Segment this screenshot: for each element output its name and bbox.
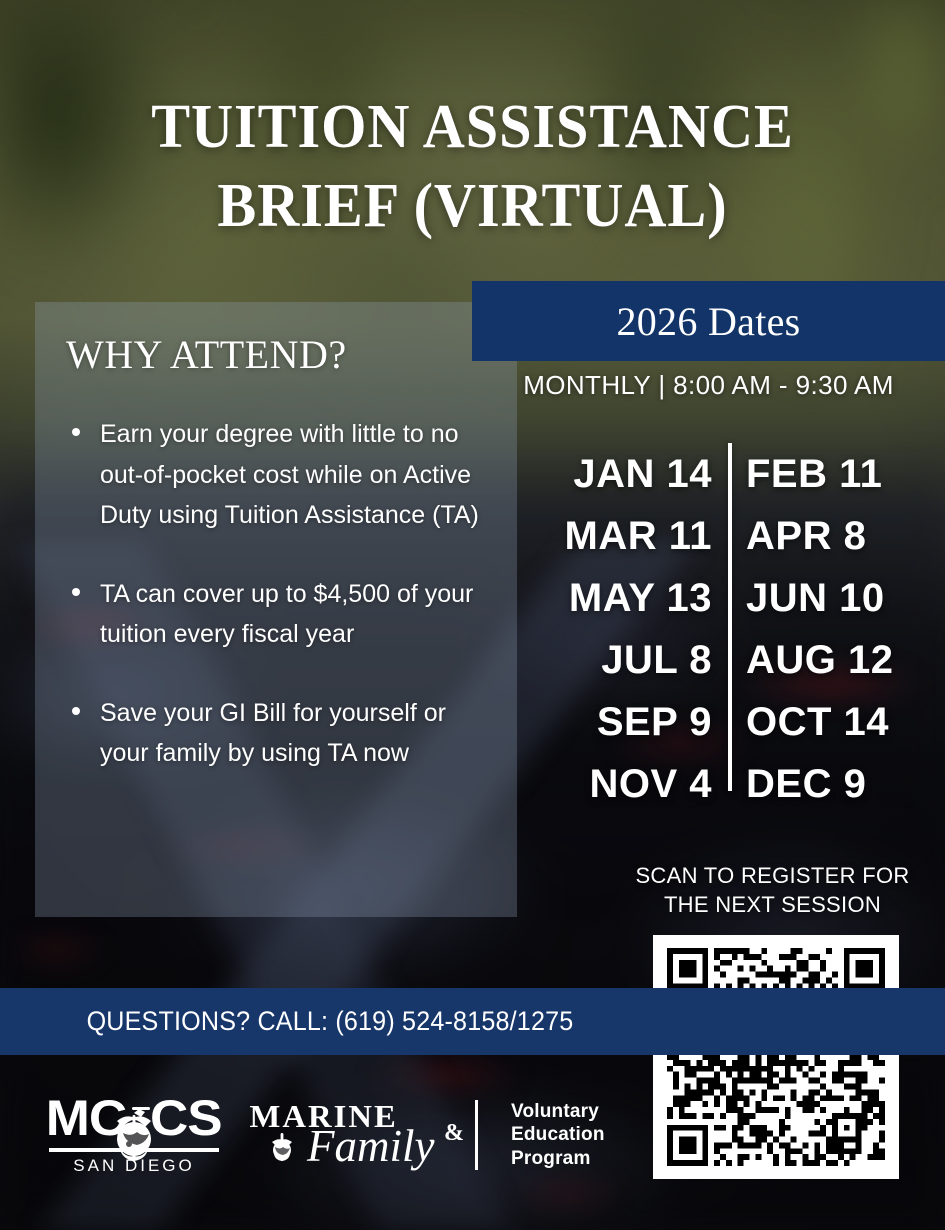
- date-cell: OCT 14: [746, 691, 889, 753]
- why-attend-bullet-list: Earn your degree with little to no out-o…: [68, 414, 500, 774]
- vep-line-3: Program: [511, 1147, 615, 1171]
- date-cell: APR 8: [746, 505, 866, 567]
- date-cell: SEP 9: [597, 691, 712, 753]
- marine-and-family-logo: MARINE & Family: [251, 1096, 483, 1174]
- eagle-globe-anchor-small-icon: [265, 1130, 299, 1164]
- date-cell: NOV 4: [589, 753, 712, 815]
- list-item: TA can cover up to $4,500 of your tuitio…: [68, 574, 500, 655]
- scan-line-2: THE NEXT SESSION: [600, 890, 945, 919]
- questions-phone-text: QUESTIONS? CALL: (619) 524-8158/1275: [23, 988, 637, 1055]
- date-cell: DEC 9: [746, 753, 866, 815]
- title-line-1: TUITION ASSISTANCE: [28, 88, 916, 167]
- list-item: Save your GI Bill for yourself or your f…: [68, 693, 500, 774]
- dates-left-column: JAN 14 MAR 11 MAY 13 JUL 8 SEP 9 NOV 4: [540, 443, 712, 815]
- list-item: Earn your degree with little to no out-o…: [68, 414, 500, 536]
- why-attend-panel: WHY ATTEND? Earn your degree with little…: [35, 302, 517, 917]
- why-attend-heading: WHY ATTEND?: [66, 331, 347, 378]
- ampersand-glyph: &: [444, 1120, 464, 1147]
- dates-vertical-divider: [728, 443, 732, 791]
- date-cell: MAY 13: [569, 567, 712, 629]
- dates-grid: JAN 14 MAR 11 MAY 13 JUL 8 SEP 9 NOV 4 F…: [540, 443, 945, 815]
- scan-line-1: SCAN TO REGISTER FOR: [600, 861, 945, 890]
- voluntary-education-program-label: Voluntary Education Program: [511, 1096, 615, 1174]
- date-cell: MAR 11: [565, 505, 713, 567]
- qr-code[interactable]: [653, 935, 899, 1179]
- dates-right-column: FEB 11 APR 8 JUN 10 AUG 12 OCT 14 DEC 9: [746, 443, 945, 815]
- date-cell: JUL 8: [601, 629, 712, 691]
- vep-line-2: Education: [511, 1123, 615, 1147]
- eagle-globe-anchor-icon: [103, 1099, 165, 1165]
- schedule-line: MONTHLY | 8:00 AM - 9:30 AM: [472, 370, 945, 401]
- poster-canvas: TUITION ASSISTANCE BRIEF (VIRTUAL) WHY A…: [0, 0, 945, 1230]
- vep-line-1: Voluntary: [511, 1100, 615, 1124]
- poster-title: TUITION ASSISTANCE BRIEF (VIRTUAL): [28, 88, 916, 247]
- mccs-divider-rule: [49, 1148, 219, 1152]
- qr-code-icon: [666, 948, 886, 1166]
- logo-row: MC CS SAN DI: [0, 1080, 660, 1190]
- dates-banner-label: 2026 Dates: [616, 298, 800, 345]
- date-cell: FEB 11: [746, 443, 882, 505]
- mccs-location: SAN DIEGO: [45, 1156, 223, 1176]
- title-line-2: BRIEF (VIRTUAL): [28, 167, 916, 246]
- questions-bar: QUESTIONS? CALL: (619) 524-8158/1275: [0, 988, 945, 1055]
- family-wordmark: Family: [307, 1124, 434, 1169]
- dates-banner: 2026 Dates: [472, 281, 945, 361]
- date-cell: JAN 14: [573, 443, 712, 505]
- date-cell: AUG 12: [746, 629, 894, 691]
- mccs-logo: MC CS SAN DI: [45, 1092, 223, 1178]
- scan-instruction: SCAN TO REGISTER FOR THE NEXT SESSION: [600, 861, 945, 920]
- date-cell: JUN 10: [746, 567, 885, 629]
- logo-vertical-divider: [475, 1100, 478, 1170]
